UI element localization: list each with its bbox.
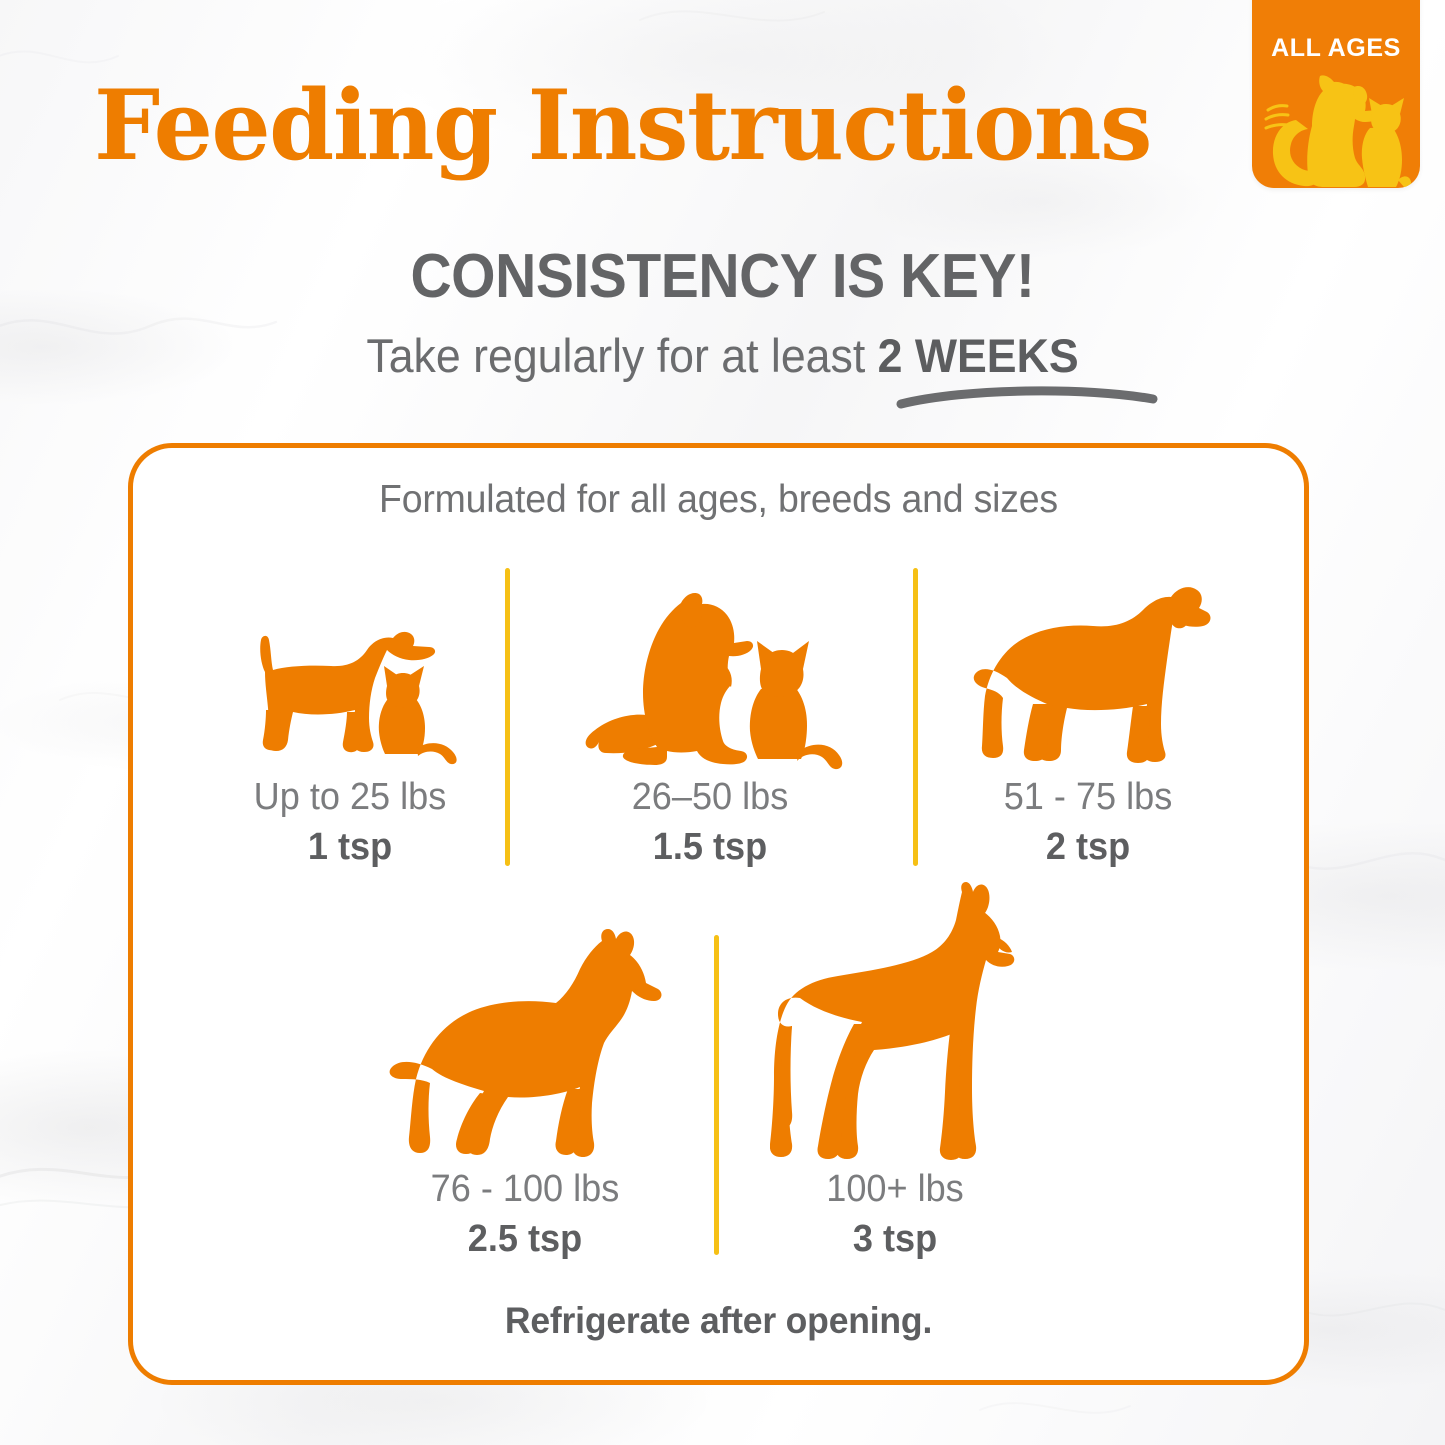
size-cell-weight: 100+ lbs — [734, 1170, 1057, 1208]
size-cell-dose: 1.5 tsp — [525, 828, 896, 866]
sitting-dog-and-cat-icon — [575, 585, 845, 770]
size-cell-76-100: 76 - 100 lbs 2.5 tsp — [345, 933, 705, 1258]
two-weeks-underline-swoosh — [896, 382, 1158, 410]
divider-row1-left — [505, 568, 510, 866]
size-cell-dose: 3 tsp — [734, 1220, 1057, 1258]
size-cell-art — [725, 882, 1065, 1162]
all-ages-badge: ALL AGES — [1252, 0, 1420, 188]
size-cell-weight: 51 - 75 lbs — [931, 778, 1245, 816]
feeding-instructions-card: Formulated for all ages, breeds and size… — [128, 443, 1309, 1385]
size-cell-art — [923, 570, 1253, 770]
take-regularly-prefix: Take regularly for at least — [366, 329, 877, 382]
size-cell-100-plus: 100+ lbs 3 tsp — [725, 933, 1065, 1258]
labrador-dog-icon — [963, 570, 1213, 770]
size-cell-weight: Up to 25 lbs — [203, 778, 498, 816]
divider-row2 — [714, 935, 719, 1255]
size-cell-art — [195, 620, 505, 770]
card-subtitle: Formulated for all ages, breeds and size… — [156, 478, 1280, 522]
divider-row1-right — [913, 568, 918, 866]
size-cell-51-75: 51 - 75 lbs 2 tsp — [923, 563, 1253, 866]
two-weeks-emphasis: 2 WEEKS — [878, 329, 1079, 382]
size-cell-weight: 26–50 lbs — [525, 778, 896, 816]
take-regularly-line: Take regularly for at least 2 WEEKS — [36, 332, 1409, 379]
size-cell-dose: 2 tsp — [931, 828, 1245, 866]
size-cell-26-50: 26–50 lbs 1.5 tsp — [515, 563, 905, 866]
size-cell-weight: 76 - 100 lbs — [354, 1170, 696, 1208]
great-dane-dog-icon — [770, 882, 1020, 1162]
size-cell-dose: 1 tsp — [203, 828, 498, 866]
refrigerate-note: Refrigerate after opening. — [156, 1300, 1280, 1342]
consistency-heading: CONSISTENCY IS KEY! — [58, 246, 1387, 308]
page-title: Feeding Instructions — [19, 78, 1227, 174]
size-cell-dose: 2.5 tsp — [354, 1220, 696, 1258]
size-cell-art — [515, 585, 905, 770]
all-ages-badge-label: ALL AGES — [1252, 34, 1420, 63]
shepherd-dog-icon — [380, 927, 670, 1162]
small-dog-and-cat-icon — [235, 620, 465, 770]
size-cell-up-to-25: Up to 25 lbs 1 tsp — [195, 563, 505, 866]
size-cell-art — [345, 927, 705, 1162]
dog-cat-silhouette-icon — [1262, 70, 1412, 188]
